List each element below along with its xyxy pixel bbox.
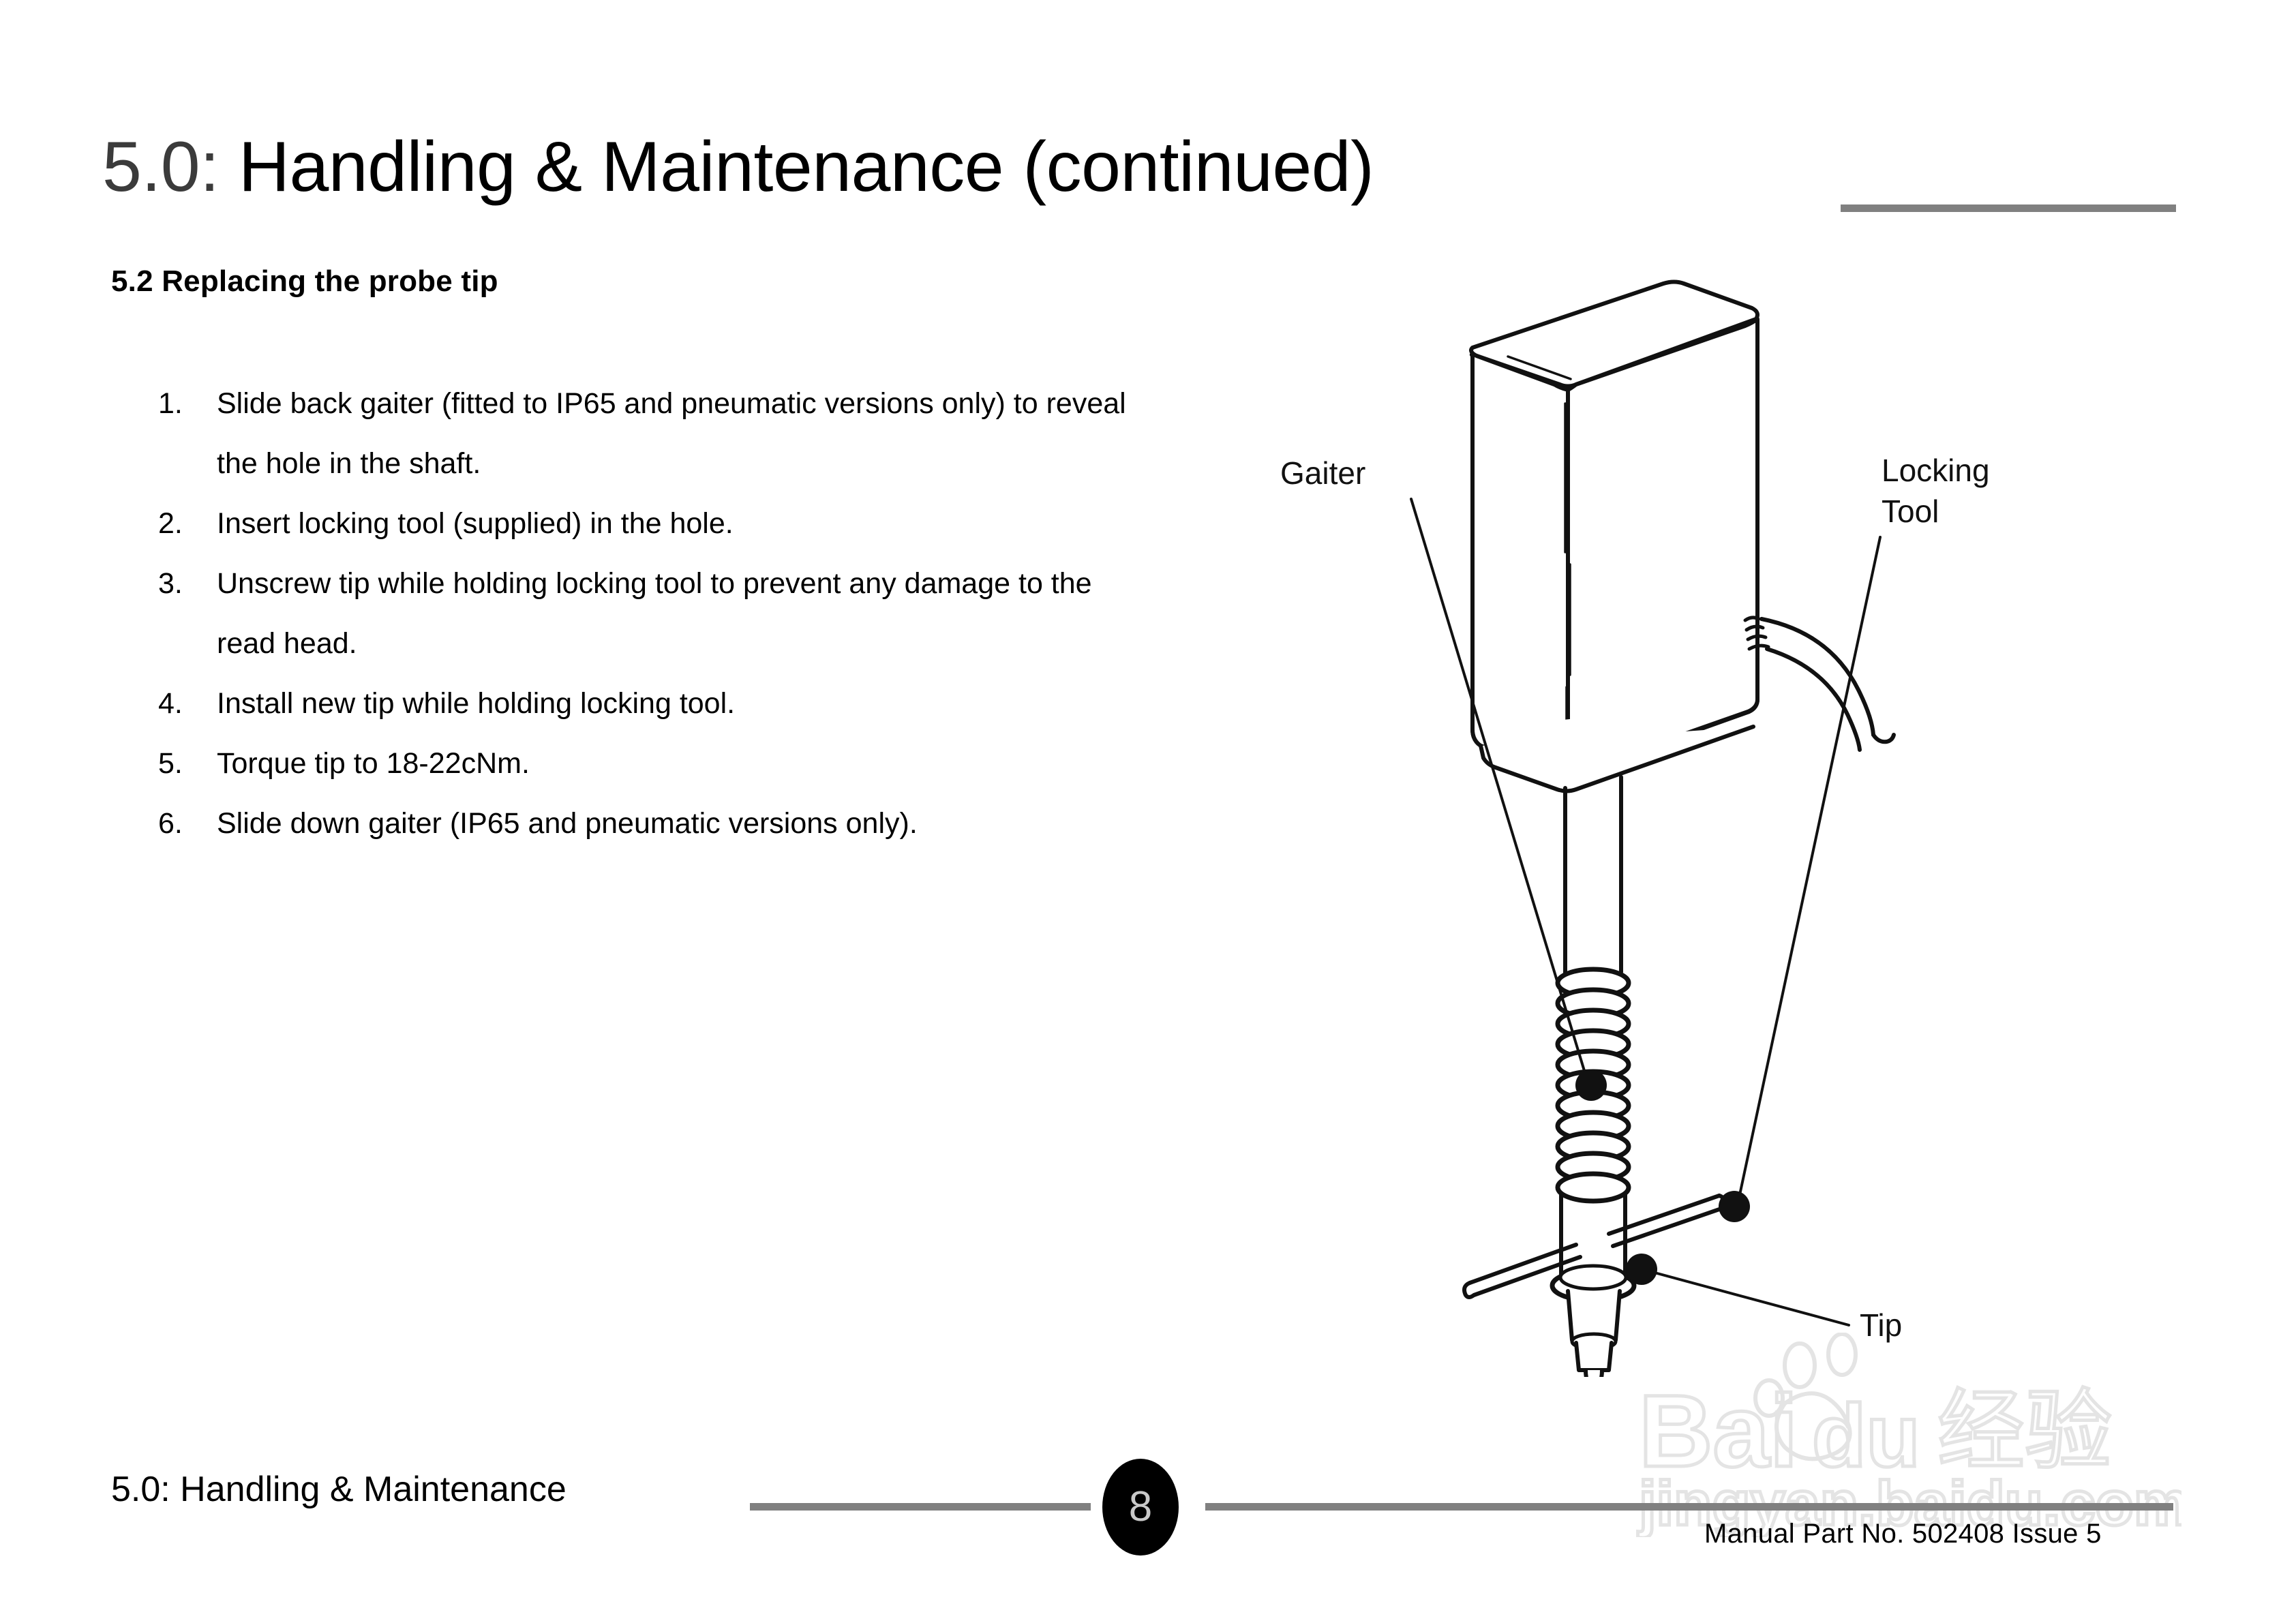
watermark-brand-bai: Bai bbox=[1639, 1374, 1798, 1488]
list-item-text: Install new tip while holding locking to… bbox=[217, 673, 1126, 733]
page-number-badge: 8 bbox=[1102, 1459, 1179, 1556]
tip-label: Tip bbox=[1860, 1307, 1902, 1343]
list-item: 6. Slide down gaiter (IP65 and pneumatic… bbox=[158, 793, 1126, 853]
probe-nose-and-tip bbox=[1568, 1291, 1620, 1377]
list-item: 4. Install new tip while holding locking… bbox=[158, 673, 1126, 733]
list-item: 3. Unscrew tip while holding locking too… bbox=[158, 553, 1126, 673]
list-item-number: 1. bbox=[158, 374, 217, 434]
locking-tool-label-line2: Tool bbox=[1882, 494, 1939, 529]
page-title-main: Handling & Maintenance (continued) bbox=[219, 127, 1374, 207]
callout-tip: Tip bbox=[1626, 1254, 1902, 1343]
list-item-text: Insert locking tool (supplied) in the ho… bbox=[217, 494, 1126, 553]
probe-shaft-upper bbox=[1565, 777, 1621, 979]
tip-leader-line bbox=[1647, 1271, 1849, 1325]
list-item-number: 2. bbox=[158, 494, 217, 553]
list-item-number: 3. bbox=[158, 553, 217, 613]
tip-leader-dot bbox=[1626, 1254, 1657, 1285]
watermark-brand-du: du bbox=[1812, 1386, 1920, 1485]
probe-assembly-diagram: Gaiter Locking Tool Tip bbox=[1268, 259, 2181, 1377]
list-item-number: 4. bbox=[158, 673, 217, 733]
list-item-text: Slide down gaiter (IP65 and pneumatic ve… bbox=[217, 793, 1126, 853]
footer-rule-left bbox=[750, 1503, 1091, 1511]
page-title: 5.0: Handling & Maintenance (continued) bbox=[102, 119, 2188, 215]
manual-part-number: Manual Part No. 502408 Issue 5 bbox=[1704, 1519, 2102, 1549]
footer-section-title: 5.0: Handling & Maintenance bbox=[111, 1469, 567, 1510]
list-item-text: Slide back gaiter (fitted to IP65 and pn… bbox=[217, 374, 1126, 494]
page-title-text: 5.0: Handling & Maintenance (continued) bbox=[102, 132, 1374, 202]
list-item-number: 6. bbox=[158, 793, 217, 853]
list-item: 2. Insert locking tool (supplied) in the… bbox=[158, 494, 1126, 553]
gaiter-leader-dot bbox=[1575, 1070, 1607, 1101]
probe-body-front-face bbox=[1472, 354, 1568, 773]
list-item: 1. Slide back gaiter (fitted to IP65 and… bbox=[158, 374, 1126, 494]
title-rule bbox=[1841, 204, 2176, 212]
list-item: 5. Torque tip to 18-22cNm. bbox=[158, 733, 1126, 793]
page-title-number: 5.0: bbox=[102, 127, 219, 207]
list-item-text: Torque tip to 18-22cNm. bbox=[217, 733, 1126, 793]
page-number: 8 bbox=[1129, 1486, 1152, 1528]
document-page: 5.0: Handling & Maintenance (continued) … bbox=[0, 0, 2296, 1623]
watermark-chinese: 经验 bbox=[1937, 1380, 2112, 1482]
list-item-text: Unscrew tip while holding locking tool t… bbox=[217, 553, 1126, 673]
list-item-number: 5. bbox=[158, 733, 217, 793]
instruction-list: 1. Slide back gaiter (fitted to IP65 and… bbox=[158, 374, 1126, 853]
gaiter-label: Gaiter bbox=[1280, 455, 1365, 491]
footer-rule-right bbox=[1205, 1503, 2173, 1511]
section-subheading: 5.2 Replacing the probe tip bbox=[111, 264, 498, 299]
locking-tool-label-line1: Locking bbox=[1882, 453, 1990, 488]
locking-tool-leader-dot bbox=[1719, 1191, 1750, 1222]
probe-cable bbox=[1745, 618, 1894, 750]
